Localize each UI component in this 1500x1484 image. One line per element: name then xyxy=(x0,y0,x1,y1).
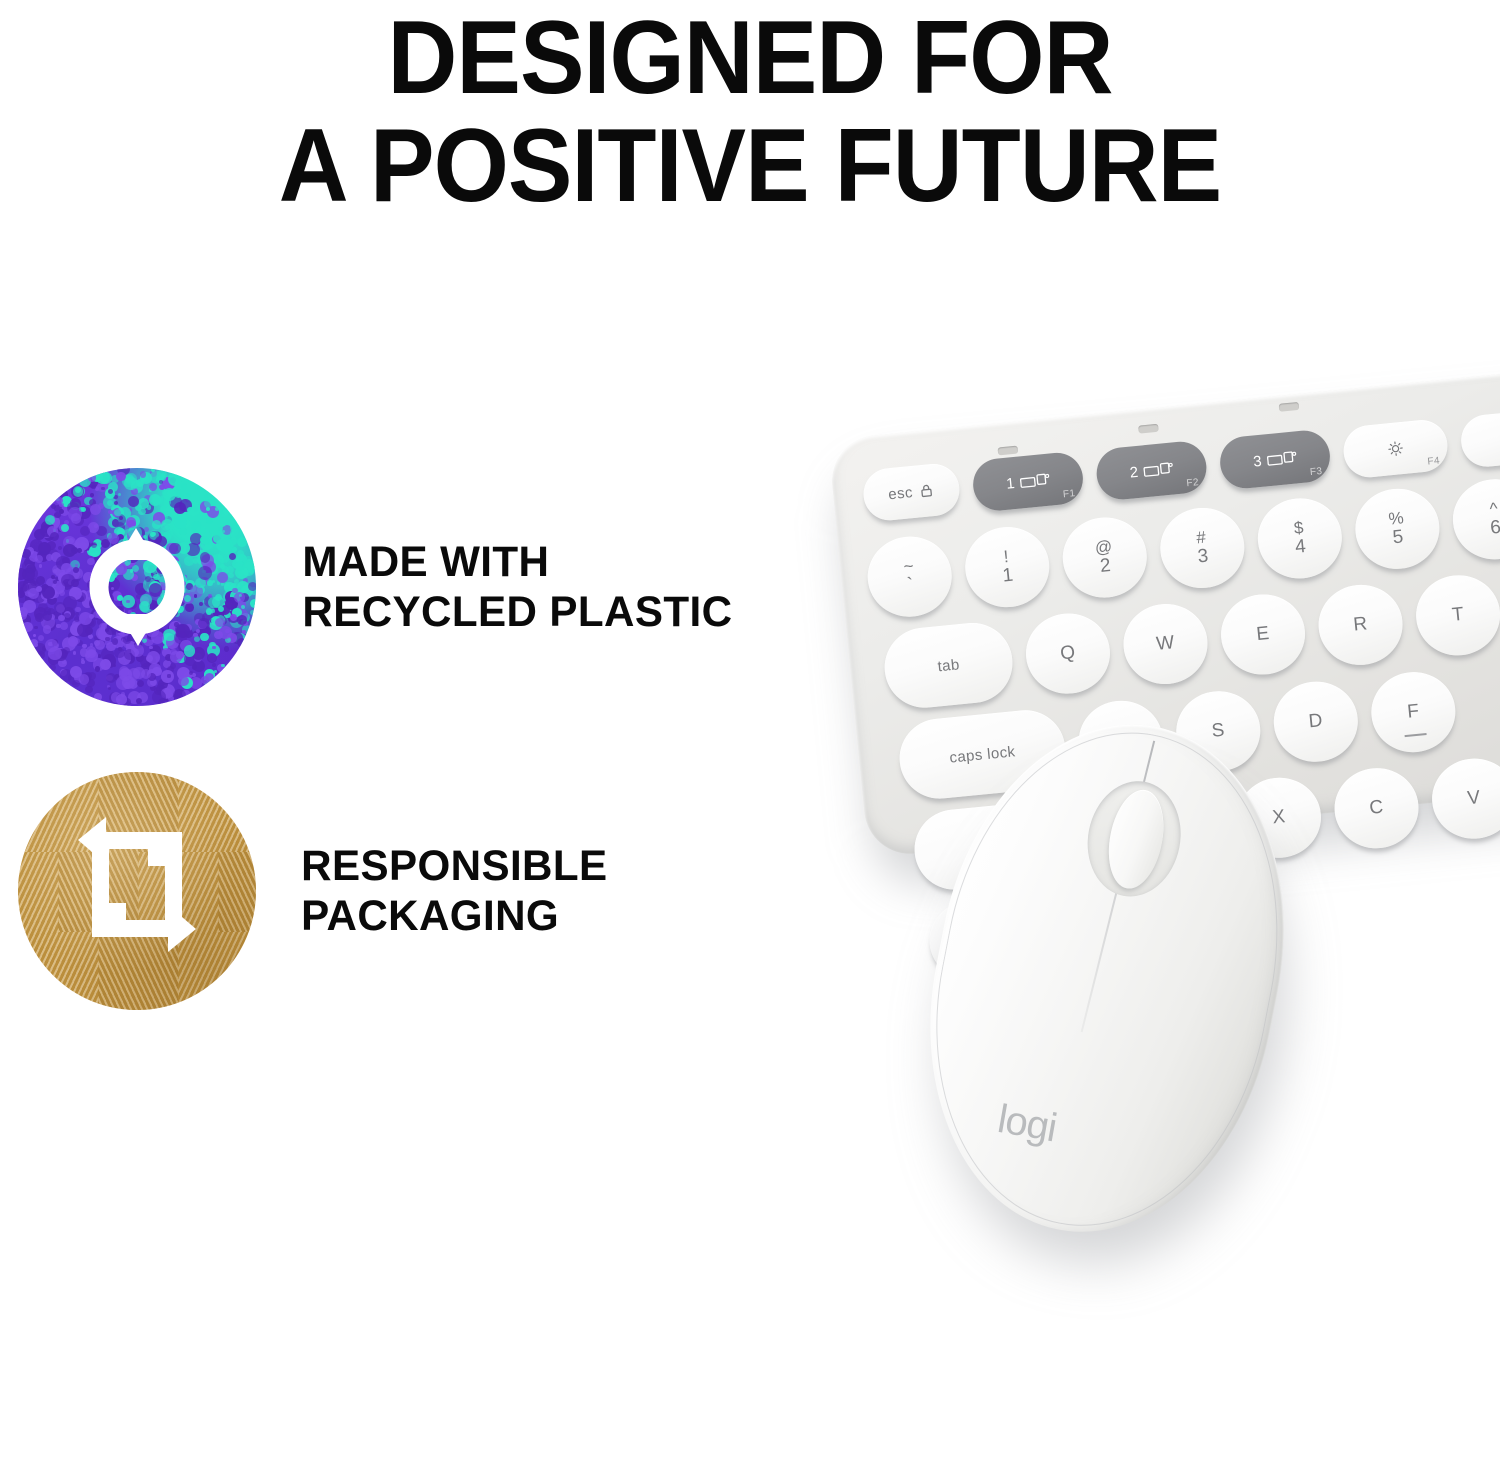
key-label: $4 xyxy=(1293,519,1308,558)
key-v[interactable]: V xyxy=(1428,755,1500,843)
sustainability-badge-list: MADE WITH RECYCLED PLASTIC RESPO xyxy=(0,468,760,1076)
fn-label: F1 xyxy=(1062,488,1075,500)
key-label: Q xyxy=(1059,642,1076,665)
key-w[interactable]: W xyxy=(1120,600,1211,688)
key-4[interactable]: $4 xyxy=(1254,495,1345,583)
key-t[interactable]: T xyxy=(1412,571,1500,659)
page-title: DESIGNED FOR A POSITIVE FUTURE xyxy=(0,0,1500,220)
key-esc[interactable]: esc xyxy=(861,462,962,523)
key-label: tab xyxy=(937,656,961,675)
key-r[interactable]: R xyxy=(1315,581,1406,669)
key-key[interactable]: ~` xyxy=(864,533,955,621)
recycled-plastic-label-line-1: MADE WITH xyxy=(302,537,732,587)
key-label: !1 xyxy=(1000,548,1015,587)
badge-made-with-recycled-plastic: MADE WITH RECYCLED PLASTIC xyxy=(0,468,760,706)
key-e[interactable]: E xyxy=(1217,591,1308,679)
key-label: D xyxy=(1308,710,1324,733)
fn-label: F4 xyxy=(1427,455,1440,467)
brightness-down-icon xyxy=(1386,439,1406,459)
key-2[interactable]: @2 xyxy=(1059,514,1150,602)
key-f1[interactable]: 1F1 xyxy=(971,450,1086,512)
key-3[interactable]: #3 xyxy=(1157,504,1248,592)
key-label: 3 xyxy=(1252,452,1262,470)
key-f2[interactable]: 2F2 xyxy=(1094,439,1209,501)
recycled-plastic-badge-disc xyxy=(18,468,256,706)
recycled-plastic-label-line-2: RECYCLED PLASTIC xyxy=(302,587,732,637)
responsible-packaging-label-line-2: PACKAGING xyxy=(301,891,607,941)
key-label: 2 xyxy=(1129,463,1139,481)
key-label: %5 xyxy=(1388,509,1407,548)
badge-responsible-packaging: RESPONSIBLE PACKAGING xyxy=(0,772,760,1010)
key-label: W xyxy=(1155,632,1175,656)
recycled-plastic-loop-icon xyxy=(18,468,256,706)
key-6[interactable]: ^6 xyxy=(1449,475,1500,563)
headline-line-2: A POSITIVE FUTURE xyxy=(53,112,1448,220)
key-label: 1 xyxy=(1005,475,1015,493)
key-label: T xyxy=(1451,604,1465,627)
key-f5[interactable]: F5 xyxy=(1459,407,1500,469)
responsible-packaging-label-line-1: RESPONSIBLE xyxy=(301,841,607,891)
key-label: V xyxy=(1466,787,1481,810)
key-f3[interactable]: 3F3 xyxy=(1218,428,1333,490)
responsible-packaging-loop-icon xyxy=(18,772,256,1010)
key-label: C xyxy=(1368,797,1384,820)
lock-icon xyxy=(918,482,935,499)
device-switch-icon xyxy=(1266,450,1297,468)
key-label: @2 xyxy=(1094,538,1115,577)
key-label: E xyxy=(1255,623,1270,646)
key-label: #3 xyxy=(1195,529,1210,568)
key-f4[interactable]: F4 xyxy=(1341,418,1450,480)
key-label: F xyxy=(1406,701,1420,724)
key-q[interactable]: Q xyxy=(1022,610,1113,698)
key-label: esc xyxy=(887,484,913,503)
fn-label: F3 xyxy=(1309,466,1322,478)
key-f[interactable]: F xyxy=(1368,668,1459,756)
device-switch-icon xyxy=(1019,472,1050,490)
responsible-packaging-badge-disc xyxy=(18,772,256,1010)
key-label: ~` xyxy=(903,557,917,596)
key-1[interactable]: !1 xyxy=(962,523,1053,611)
recycled-plastic-label: MADE WITH RECYCLED PLASTIC xyxy=(302,537,732,637)
device-switch-icon xyxy=(1143,461,1174,479)
key-5[interactable]: %5 xyxy=(1352,485,1443,573)
homing-bar-icon xyxy=(1405,733,1427,737)
key-label: R xyxy=(1352,613,1368,636)
headline-line-1: DESIGNED FOR xyxy=(53,4,1448,112)
responsible-packaging-label: RESPONSIBLE PACKAGING xyxy=(301,841,607,941)
fn-label: F2 xyxy=(1186,477,1199,489)
key-label: ^6 xyxy=(1488,500,1500,539)
